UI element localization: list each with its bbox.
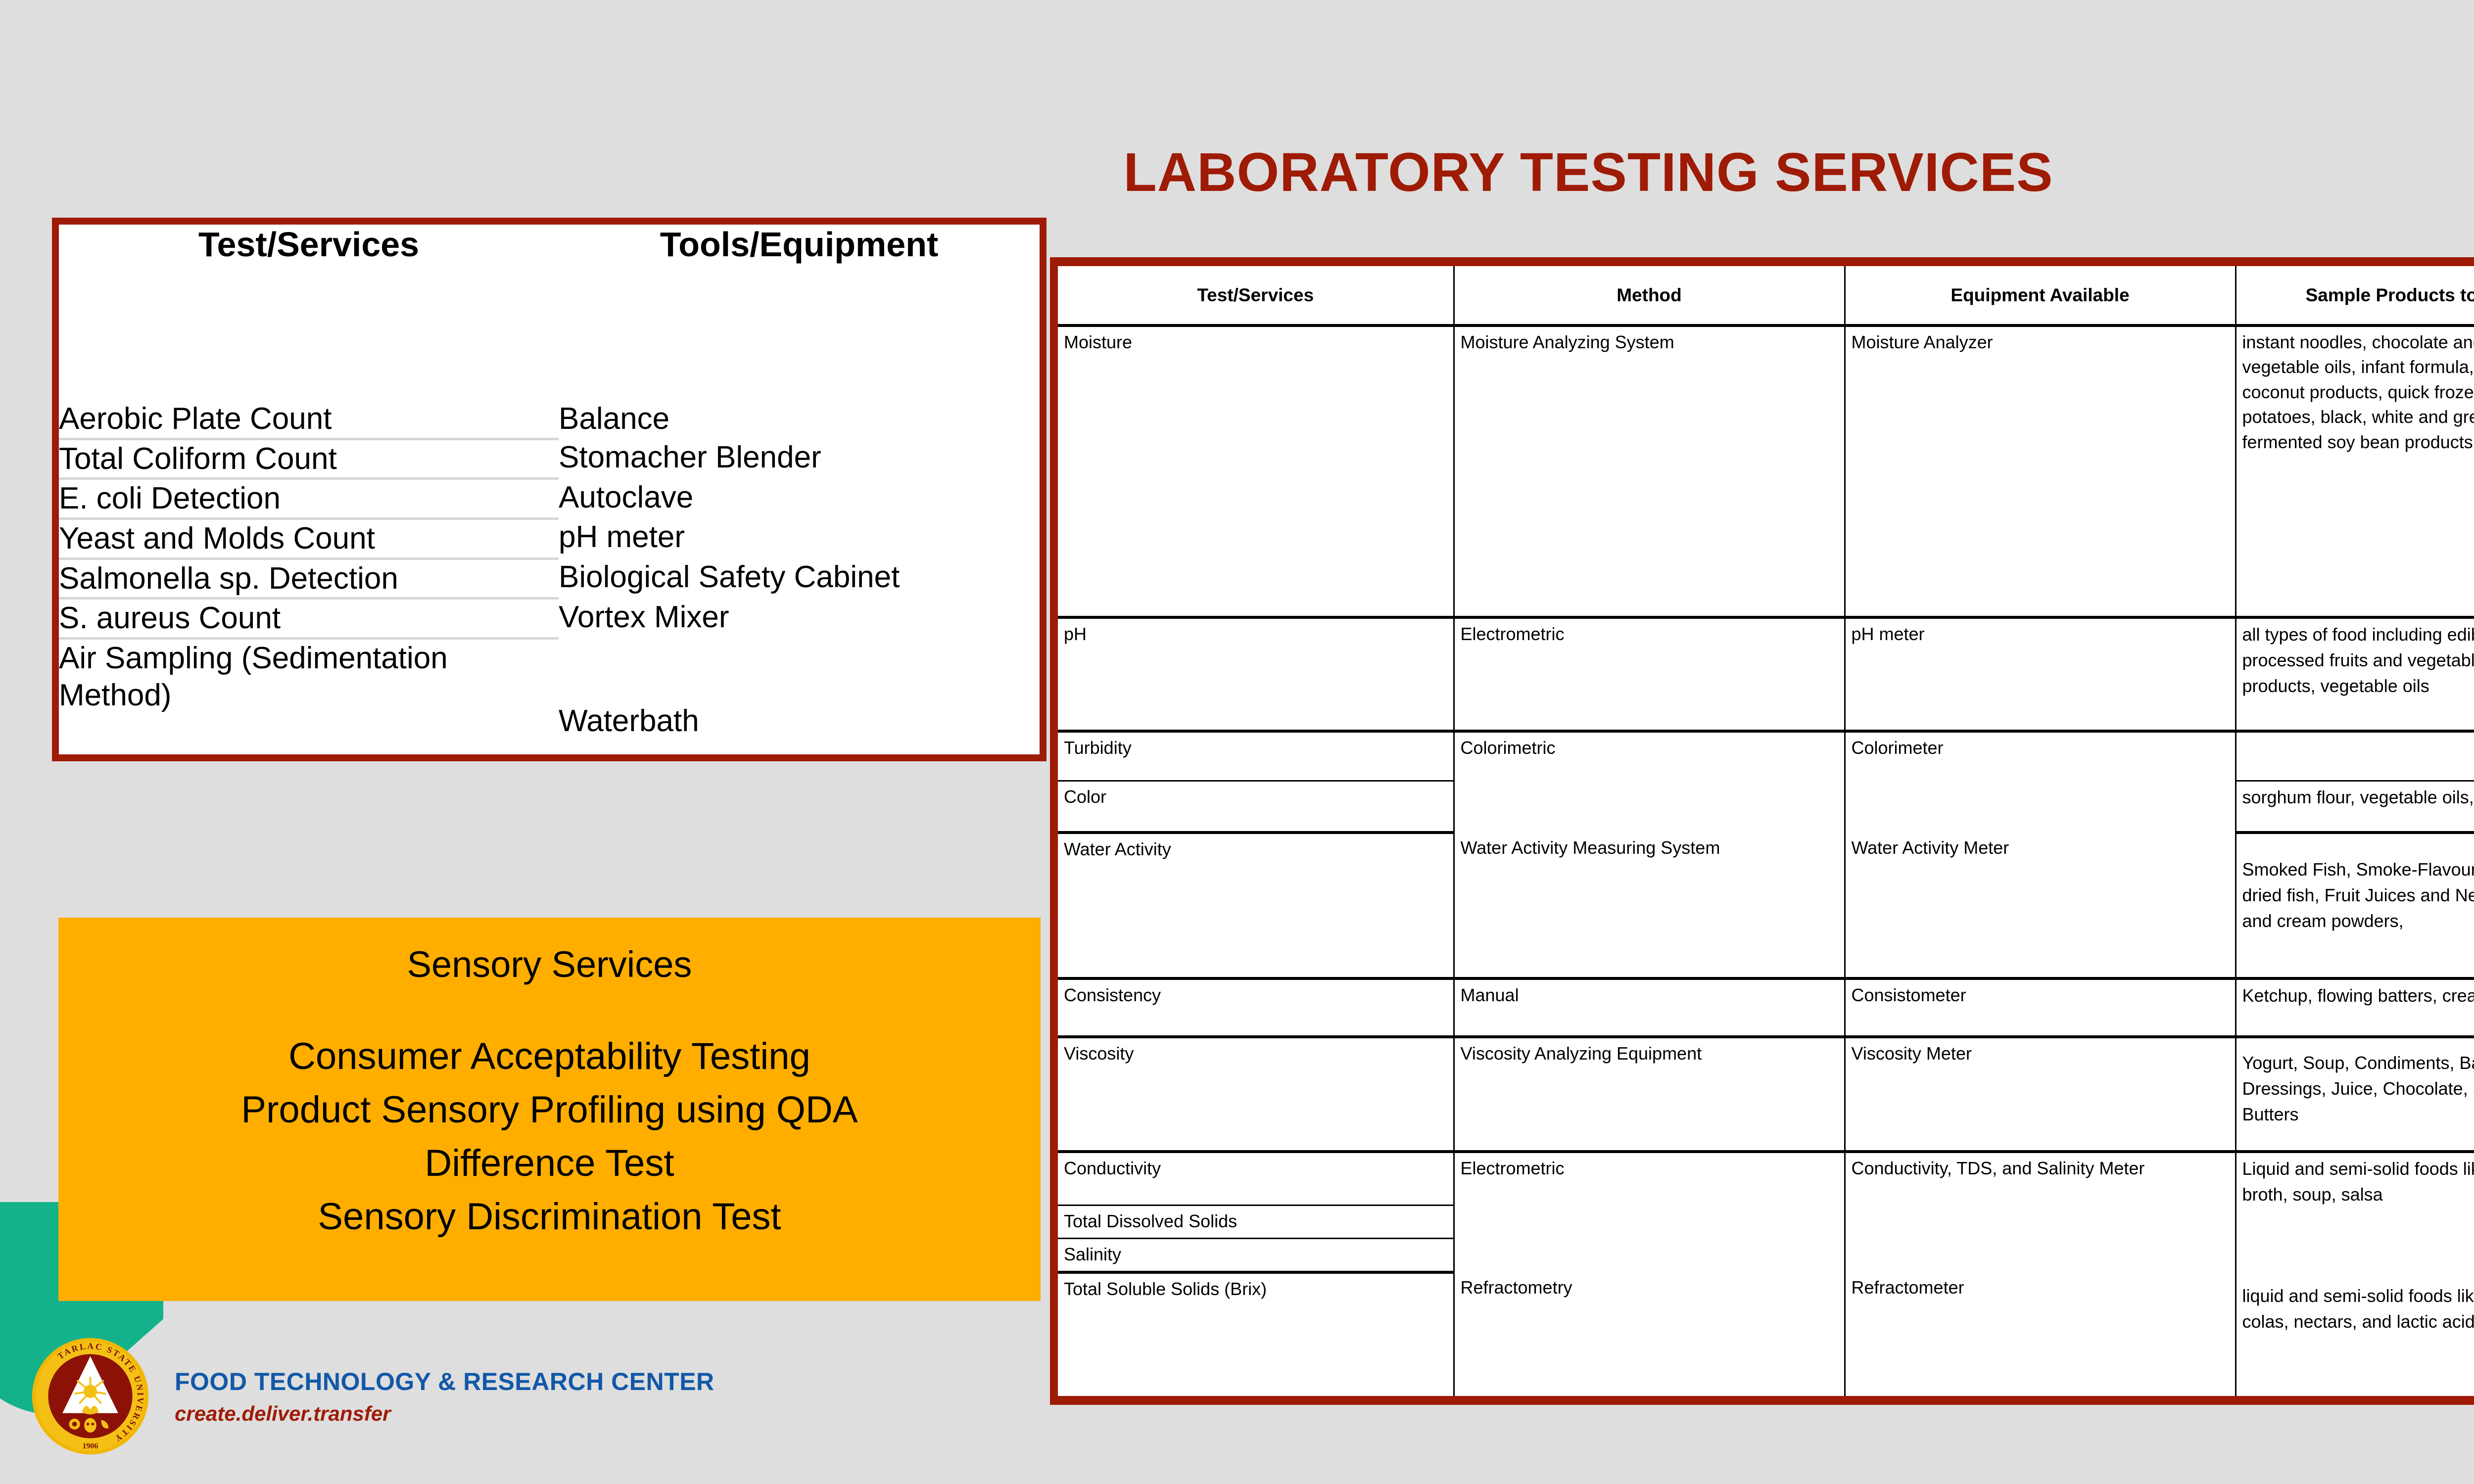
- left-cell-test: Yeast and Molds Count: [59, 518, 559, 558]
- table-row: Aerobic Plate Count Balance: [59, 400, 1040, 439]
- page-title: LABORATORY TESTING SERVICES: [1079, 141, 2098, 204]
- right-cell-samples-text: all types of food including edible casei…: [2242, 622, 2474, 698]
- right-cell-samples: Yogurt, Soup, Condiments, Batters, Salad…: [2236, 1037, 2474, 1152]
- footer-text-block: FOOD TECHNOLOGY & RESEARCH CENTER create…: [175, 1367, 714, 1426]
- right-cell-method: Moisture Analyzing System: [1454, 325, 1845, 617]
- right-cell-test: Turbidity: [1058, 731, 1454, 781]
- seal-year: 1906: [83, 1442, 98, 1450]
- right-cell-test: Moisture: [1058, 325, 1454, 617]
- right-cell-samples-text: Yogurt, Soup, Condiments, Batters, Salad…: [2242, 1050, 2474, 1127]
- sensory-list-item: Difference Test: [58, 1137, 1041, 1190]
- organization-name: FOOD TECHNOLOGY & RESEARCH CENTER: [175, 1367, 714, 1396]
- right-cell-samples: Liquid and semi-solid foods like sauces,…: [2236, 1152, 2474, 1272]
- right-cell-samples: instant noodles, chocolate and chocolate…: [2236, 325, 2474, 617]
- table-row: S. aureus Count Vortex Mixer: [59, 599, 1040, 639]
- table-header-row: Test/Services Method Equipment Available…: [1058, 266, 2474, 325]
- right-cell-equipment: Consistometer: [1845, 978, 2236, 1037]
- left-cell-tool: Waterbath: [559, 638, 1040, 754]
- right-cell-samples-text: Smoked Fish, Smoke-Flavoured fish and Sm…: [2242, 857, 2474, 933]
- right-cell-samples-text: liquid and semi-solid foods like soft dr…: [2242, 1283, 2474, 1335]
- left-cell-tool: Balance: [559, 400, 1040, 439]
- left-cell-tool: Biological Safety Cabinet: [559, 558, 1040, 599]
- table-row: Yeast and Molds Count pH meter: [59, 518, 1040, 558]
- right-cell-test: Total Soluble Solids (Brix): [1058, 1272, 1454, 1396]
- left-cell-test: S. aureus Count: [59, 599, 559, 639]
- table-row: Air Sampling (Sedimentation Method) Wate…: [59, 638, 1040, 754]
- right-cell-test: Salinity: [1058, 1238, 1454, 1272]
- table-row: E. coli Detection Autoclave: [59, 479, 1040, 519]
- right-cell-method: Viscosity Analyzing Equipment: [1454, 1037, 1845, 1152]
- right-cell-method: Electrometric: [1454, 1152, 1845, 1272]
- right-cell-test: pH: [1058, 617, 1454, 731]
- table-row: Consistency Manual Consistometer Ketchup…: [1058, 978, 2474, 1037]
- table-header-row: Test/Services Tools/Equipment: [59, 225, 1040, 400]
- right-cell-equipment: Moisture Analyzer: [1845, 325, 2236, 617]
- right-cell-samples: sorghum flour, vegetable oils, sugars,: [2236, 781, 2474, 833]
- right-cell-equipment: Colorimeter: [1845, 731, 2236, 833]
- right-cell-test: Total Dissolved Solids: [1058, 1205, 1454, 1238]
- table-row: Viscosity Viscosity Analyzing Equipment …: [1058, 1037, 2474, 1152]
- right-cell-test: Color: [1058, 781, 1454, 833]
- left-cell-test: Aerobic Plate Count: [59, 400, 559, 439]
- left-header-tools-equipment: Tools/Equipment: [559, 225, 1040, 400]
- right-cell-method: Refractometry: [1454, 1272, 1845, 1396]
- left-cell-tool: pH meter: [559, 518, 1040, 558]
- left-cell-test: Total Coliform Count: [59, 439, 559, 479]
- right-cell-equipment: Viscosity Meter: [1845, 1037, 2236, 1152]
- table-row: Total Soluble Solids (Brix) Refractometr…: [1058, 1272, 2474, 1396]
- right-cell-test: Conductivity: [1058, 1152, 1454, 1205]
- tarlac-state-university-seal-icon: TARLAC STATE UNIVERSITY: [30, 1336, 151, 1457]
- right-cell-equipment: Water Activity Meter: [1845, 833, 2236, 978]
- left-cell-tool: Autoclave: [559, 479, 1040, 519]
- sensory-services-box: Sensory Services Consumer Acceptability …: [58, 918, 1041, 1301]
- right-cell-samples: liquid and semi-solid foods like soft dr…: [2236, 1272, 2474, 1396]
- right-cell-samples-text: Ketchup, flowing batters, creamy dressin…: [2242, 983, 2474, 1009]
- table-row: Salmonella sp. Detection Biological Safe…: [59, 558, 1040, 599]
- slide-canvas: LABORATORY TESTING SERVICES Test/Service…: [0, 0, 2474, 1484]
- right-cell-equipment: Refractometer: [1845, 1272, 2236, 1396]
- sensory-box-title: Sensory Services: [58, 943, 1041, 985]
- table-row: Total Coliform Count Stomacher Blender: [59, 439, 1040, 479]
- table-row: Moisture Moisture Analyzing System Moist…: [1058, 325, 2474, 617]
- right-cell-samples: Ketchup, flowing batters, creamy dressin…: [2236, 978, 2474, 1037]
- right-cell-method: Colorimetric: [1454, 731, 1845, 833]
- right-header-sample-products: Sample Products to be Analyzed: [2236, 266, 2474, 325]
- right-table: Test/Services Method Equipment Available…: [1058, 266, 2474, 1396]
- left-cell-tool: Vortex Mixer: [559, 599, 1040, 639]
- left-table: Test/Services Tools/Equipment Aerobic Pl…: [59, 225, 1040, 754]
- right-cell-test: Consistency: [1058, 978, 1454, 1037]
- right-cell-samples: all types of food including edible casei…: [2236, 617, 2474, 731]
- sensory-list-item: Consumer Acceptability Testing: [58, 1030, 1041, 1083]
- right-header-equipment: Equipment Available: [1845, 266, 2236, 325]
- left-cell-test: Salmonella sp. Detection: [59, 558, 559, 599]
- right-cell-method: Electrometric: [1454, 617, 1845, 731]
- right-cell-samples: Smoked Fish, Smoke-Flavoured fish and Sm…: [2236, 833, 2474, 978]
- right-cell-samples-text: sorghum flour, vegetable oils, sugars,: [2242, 785, 2474, 810]
- right-cell-method: Manual: [1454, 978, 1845, 1037]
- left-cell-test: Air Sampling (Sedimentation Method): [59, 638, 559, 754]
- left-cell-test: E. coli Detection: [59, 479, 559, 519]
- sensory-list-item: Product Sensory Profiling using QDA: [58, 1083, 1041, 1137]
- left-cell-tool: Stomacher Blender: [559, 439, 1040, 479]
- footer: TARLAC STATE UNIVERSITY: [30, 1336, 714, 1457]
- organization-tagline: create.deliver.transfer: [175, 1402, 714, 1426]
- right-header-method: Method: [1454, 266, 1845, 325]
- sensory-list-item: Sensory Discrimination Test: [58, 1190, 1041, 1244]
- table-row: Turbidity Colorimetric Colorimeter: [1058, 731, 2474, 781]
- right-cell-samples: [2236, 731, 2474, 781]
- sensory-services-list: Consumer Acceptability Testing Product S…: [58, 1030, 1041, 1244]
- right-cell-equipment: Conductivity, TDS, and Salinity Meter: [1845, 1152, 2236, 1272]
- right-cell-samples-text: Liquid and semi-solid foods like sauces,…: [2242, 1156, 2474, 1207]
- microbiology-table: Test/Services Tools/Equipment Aerobic Pl…: [52, 218, 1047, 761]
- right-cell-method: Water Activity Measuring System: [1454, 833, 1845, 978]
- left-header-test-services: Test/Services: [59, 225, 559, 400]
- table-row: pH Electrometric pH meter all types of f…: [1058, 617, 2474, 731]
- table-row: Conductivity Electrometric Conductivity,…: [1058, 1152, 2474, 1205]
- right-cell-test: Viscosity: [1058, 1037, 1454, 1152]
- right-cell-test: Water Activity: [1058, 833, 1454, 978]
- physicochemical-table: Test/Services Method Equipment Available…: [1050, 257, 2474, 1405]
- right-header-test-services: Test/Services: [1058, 266, 1454, 325]
- right-cell-equipment: pH meter: [1845, 617, 2236, 731]
- table-row: Water Activity Water Activity Measuring …: [1058, 833, 2474, 978]
